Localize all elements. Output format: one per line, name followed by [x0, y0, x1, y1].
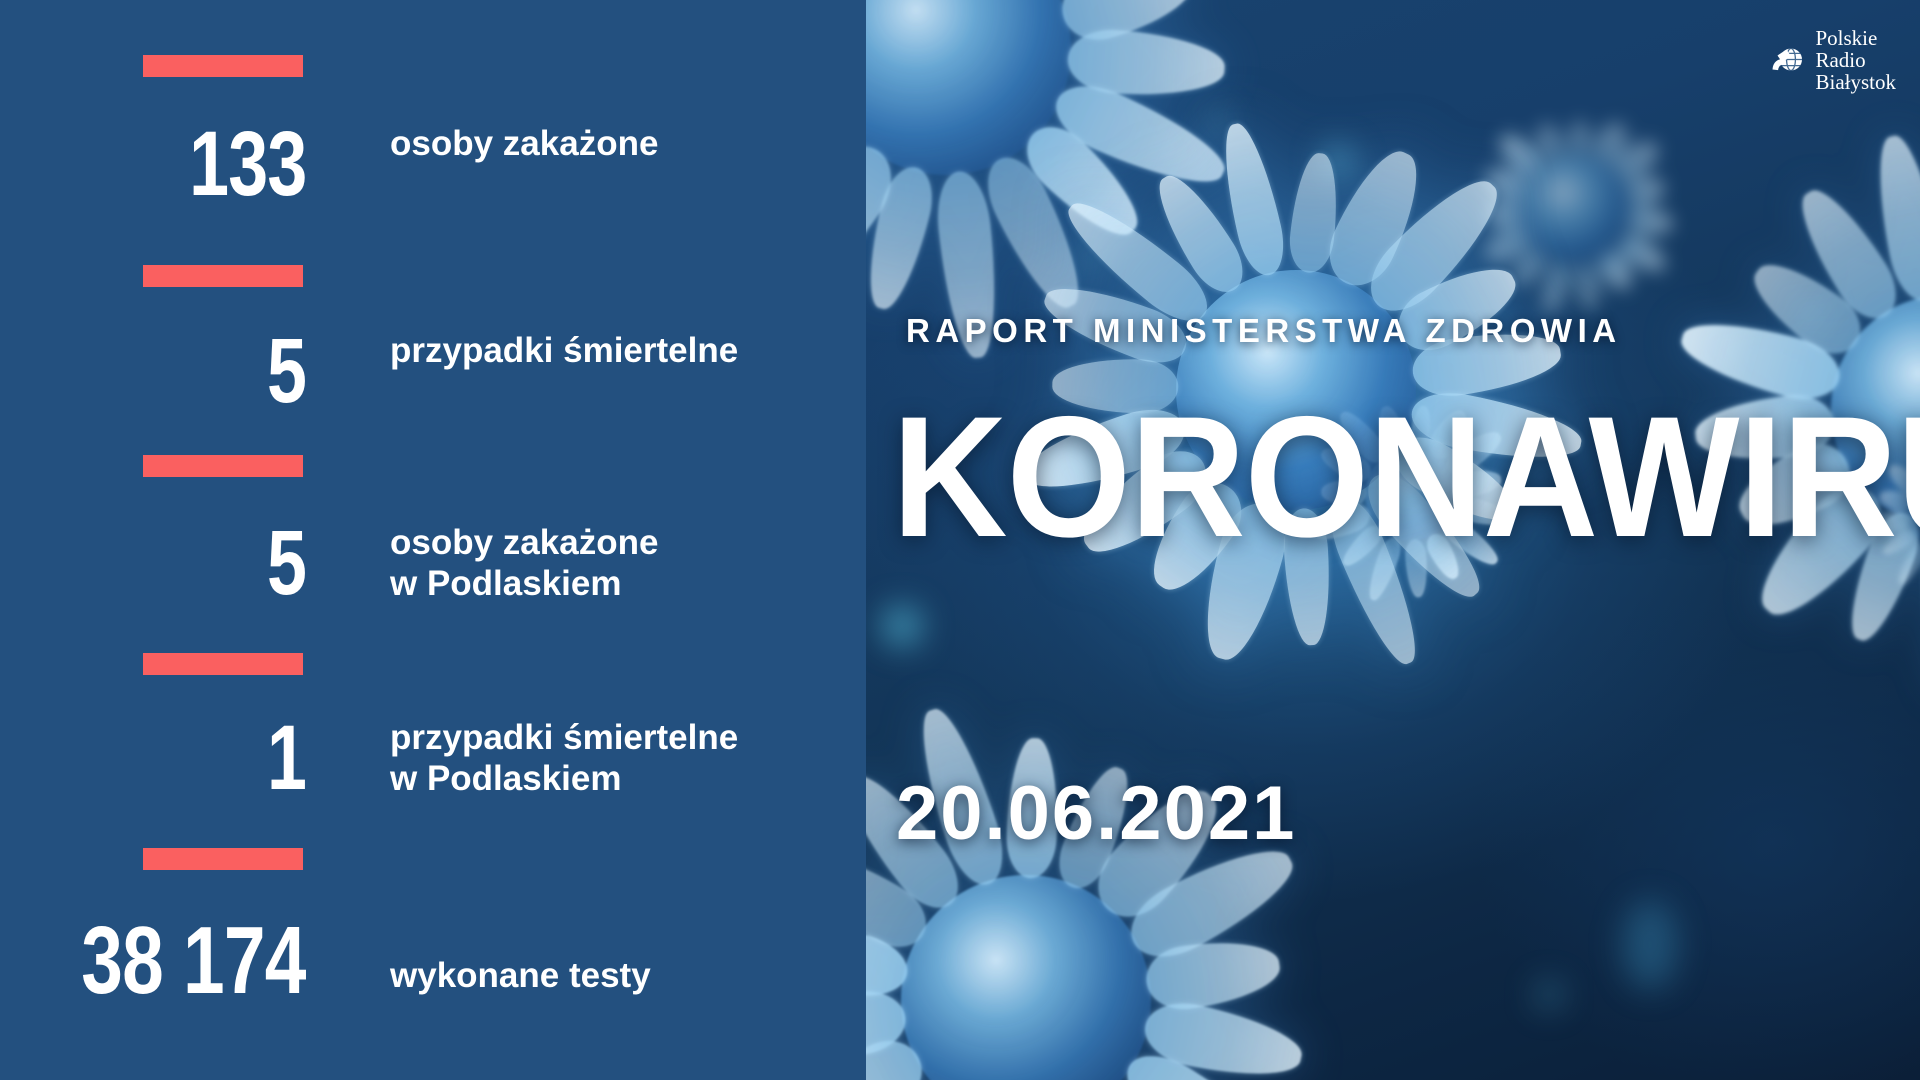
virion-spike: [1741, 248, 1873, 366]
logo-line-2: Radio: [1815, 50, 1896, 72]
virion-spike: [1786, 179, 1909, 330]
bokeh-dot: [1321, 145, 1355, 179]
virion-spike: [1624, 173, 1667, 210]
virion-spike: [1479, 221, 1535, 270]
bokeh-dot: [1622, 900, 1678, 990]
stat-value: 5: [267, 325, 306, 417]
accent-rule: [143, 455, 303, 477]
stat-value: 5: [267, 517, 306, 609]
stat-label: wykonane testy: [390, 955, 651, 996]
virion-spike: [866, 162, 940, 314]
virion-spike: [866, 908, 913, 1004]
virion-spike: [1213, 119, 1291, 280]
bokeh-dot: [1076, 245, 1102, 271]
virion-spike: [1609, 134, 1665, 188]
bokeh-dot: [1206, 112, 1228, 134]
virion-spike: [1614, 229, 1670, 278]
virion-spike: [1538, 259, 1573, 315]
virion-spike: [1139, 996, 1307, 1080]
stat-label: osoby zakażone w Podlaskiem: [390, 522, 658, 605]
virion-spike: [1144, 166, 1253, 302]
logo-line-3: Białystok: [1815, 72, 1896, 94]
virion-spike: [1531, 120, 1569, 164]
stat-value: 133: [189, 118, 306, 210]
virus-imagery-panel: RAPORT MINISTERSTWA ZDROWIA KORONAWIRUS …: [866, 0, 1920, 1080]
virion-spike: [1286, 151, 1343, 275]
polskie-radio-bialystok-logo: Polskie Radio Białystok: [1764, 28, 1896, 93]
virion-spike: [1508, 245, 1550, 290]
accent-rule: [143, 55, 303, 77]
virion-core: [866, 0, 1071, 175]
accent-rule: [143, 653, 303, 675]
coronavirus-particle-icon: [1476, 110, 1676, 310]
coronavirus-particle-icon: [866, 0, 1256, 360]
virion-spike: [1573, 262, 1603, 310]
virion-spike: [1142, 933, 1284, 1014]
stat-value: 38 174: [82, 913, 306, 1009]
stat-value: 1: [267, 712, 306, 804]
virion-spike: [1494, 128, 1548, 182]
report-date: 20.06.2021: [896, 770, 1296, 857]
virion-spike: [1356, 164, 1515, 326]
bokeh-dot: [1796, 300, 1826, 330]
virion-spike: [1481, 162, 1530, 204]
logo-line-1: Polskie: [1815, 28, 1896, 50]
covid-report-poster: 133 osoby zakażone 5 przypadki śmierteln…: [0, 0, 1920, 1080]
virion-spike: [1486, 198, 1523, 229]
stat-label: przypadki śmiertelne: [390, 330, 738, 371]
virion-spike: [1568, 120, 1591, 156]
virion-spike: [1025, 0, 1207, 6]
virion-spike: [1045, 72, 1235, 201]
polskie-radio-microphone-globe-icon: [1764, 39, 1808, 83]
stat-label: przypadki śmiertelne w Podlaskiem: [390, 717, 738, 800]
virion-spike: [1066, 27, 1227, 101]
virion-spike: [975, 148, 1096, 318]
statistics-panel: 133 osoby zakażone 5 przypadki śmierteln…: [0, 0, 866, 1080]
virion-spike: [866, 1068, 970, 1080]
virion-core: [901, 875, 1151, 1080]
virion-spike: [1595, 249, 1637, 295]
virion-spike: [866, 1028, 934, 1080]
accent-rule: [143, 848, 303, 870]
virion-spike: [1054, 0, 1199, 48]
bokeh-dot: [1534, 980, 1564, 1010]
virion-spike: [866, 840, 938, 960]
virion-spike: [866, 94, 867, 224]
report-kicker: RAPORT MINISTERSTWA ZDROWIA: [906, 312, 1622, 350]
virion-spike: [1014, 114, 1154, 252]
virion-spike: [866, 131, 907, 311]
accent-rule: [143, 265, 303, 287]
virion-spike: [1114, 1040, 1300, 1080]
virion-spike: [1317, 140, 1435, 297]
virion-spike: [866, 986, 910, 1070]
logo-wordmark: Polskie Radio Białystok: [1815, 28, 1896, 93]
page-title: KORONAWIRUS: [892, 398, 1920, 556]
virion-spike: [1627, 205, 1674, 239]
bokeh-dot: [882, 606, 922, 646]
virion-spike: [1587, 118, 1633, 169]
virion-core: [1521, 155, 1631, 265]
coronavirus-particle-icon: [866, 690, 1336, 1080]
stat-label: osoby zakażone: [390, 123, 658, 164]
virion-spike: [1867, 131, 1920, 305]
